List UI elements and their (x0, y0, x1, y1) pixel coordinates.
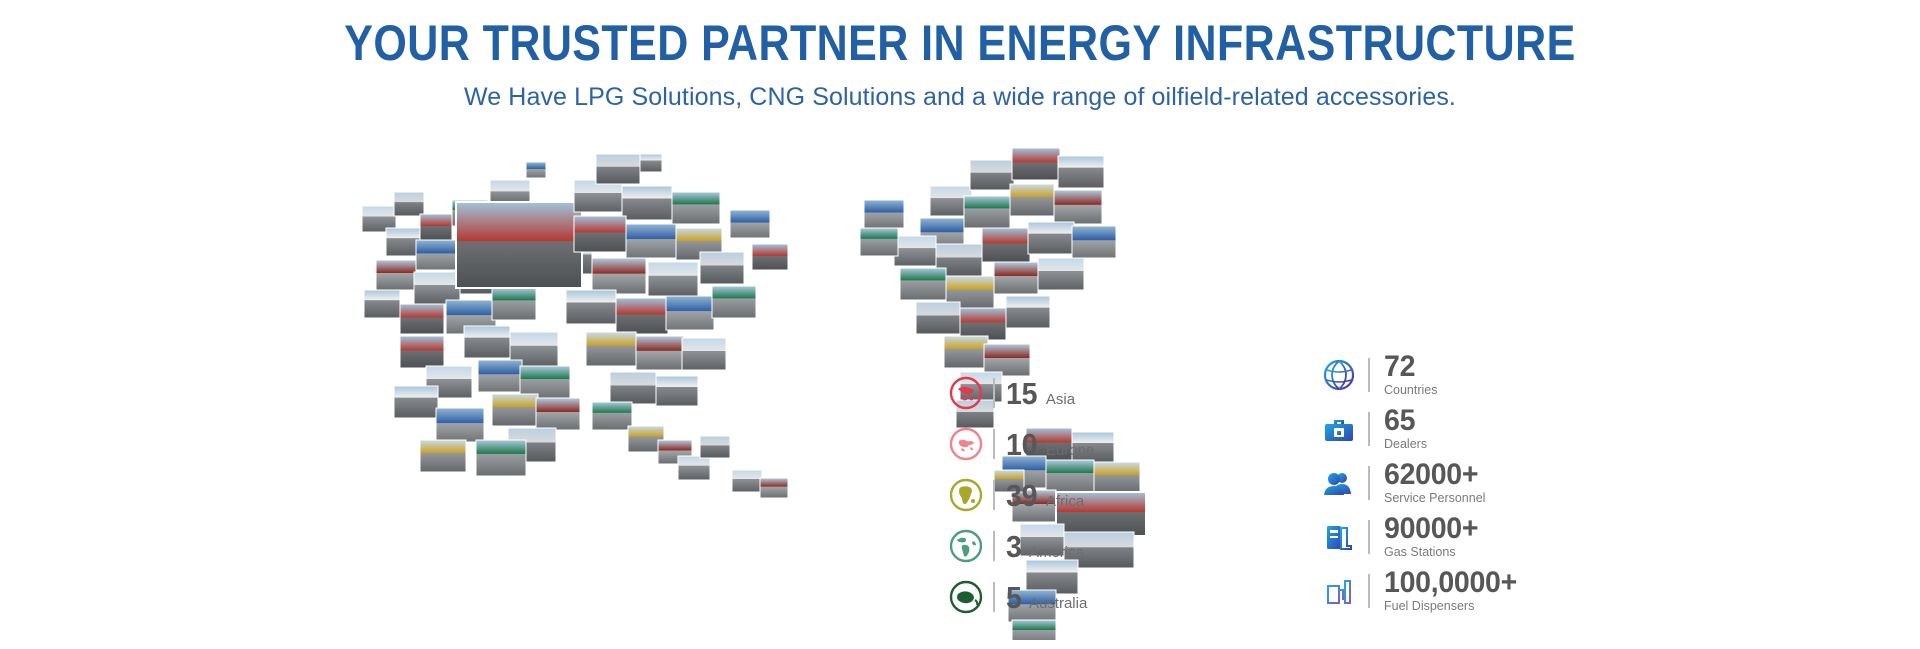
globe-america-icon (945, 525, 987, 567)
stat-label: Countries (1384, 383, 1438, 397)
stat-text: 5 Australia (1006, 582, 1087, 613)
stat-value: 62000+ (1384, 461, 1478, 489)
stat-divider (1368, 358, 1370, 392)
fuel-dispenser-icon (1318, 570, 1360, 612)
stat-divider (993, 582, 995, 612)
stat-text: 100,0000+ Fuel Dispensers (1384, 569, 1524, 613)
stat-row-australia: 5 Australia (945, 572, 1205, 622)
header-block: YOUR TRUSTED PARTNER IN ENERGY INFRASTRU… (0, 14, 1920, 112)
globe-outline-icon (1318, 354, 1360, 396)
stat-divider (993, 480, 995, 510)
stat-row-fuel-dispensers: 100,0000+ Fuel Dispensers (1318, 564, 1648, 617)
stat-divider (1368, 574, 1370, 608)
stat-row-service-personnel: 62000+ Service Personnel (1318, 456, 1648, 509)
stat-divider (993, 531, 995, 561)
stat-label: Gas Stations (1384, 545, 1456, 559)
energy-infrastructure-banner: YOUR TRUSTED PARTNER IN ENERGY INFRASTRU… (0, 0, 1920, 649)
stat-text: 65 Dealers (1384, 407, 1427, 451)
page-subtitle: We Have LPG Solutions, CNG Solutions and… (0, 82, 1920, 112)
globe-europe-icon (945, 423, 987, 465)
stat-divider (1368, 520, 1370, 554)
stat-divider (993, 429, 995, 459)
stat-text: 90000+ Gas Stations (1384, 515, 1483, 559)
stat-row-europe: 10 Europe (945, 419, 1205, 469)
stat-divider (1368, 412, 1370, 446)
stat-text: 15 Asia (1006, 378, 1075, 409)
globe-australia-icon (945, 576, 987, 618)
metric-stats-list: 72 Countries 65 Dealers (1318, 348, 1648, 618)
stat-row-africa: 39 Africa (945, 470, 1205, 520)
people-icon (1318, 462, 1360, 504)
stat-value: 72 (1384, 353, 1415, 381)
stat-text: 10 Europe (1006, 429, 1094, 460)
stat-label: America (1029, 544, 1084, 561)
stat-label: Europe (1046, 442, 1094, 459)
stat-value: 39 (1006, 480, 1037, 511)
stat-text: 39 Africa (1006, 480, 1084, 511)
stat-row-dealers: 65 Dealers (1318, 402, 1648, 455)
stat-row-asia: 15 Asia (945, 368, 1205, 418)
world-map-mosaic (360, 140, 1360, 640)
page-title: YOUR TRUSTED PARTNER IN ENERGY INFRASTRU… (134, 14, 1785, 72)
stat-value: 90000+ (1384, 515, 1478, 543)
stat-value: 5 (1006, 582, 1022, 613)
stat-row-america: 3 America (945, 521, 1205, 571)
stat-value: 10 (1006, 429, 1037, 460)
globe-asia-icon (945, 372, 987, 414)
stat-value: 65 (1384, 407, 1415, 435)
stat-row-gas-stations: 90000+ Gas Stations (1318, 510, 1648, 563)
stat-divider (993, 378, 995, 408)
briefcase-icon (1318, 408, 1360, 450)
stat-label: Africa (1046, 493, 1084, 510)
stat-label: Asia (1046, 391, 1075, 408)
stat-label: Service Personnel (1384, 491, 1485, 505)
stat-row-countries: 72 Countries (1318, 348, 1648, 401)
stat-divider (1368, 466, 1370, 500)
stat-value: 100,0000+ (1384, 569, 1517, 597)
stat-value: 15 (1006, 378, 1037, 409)
globe-africa-icon (945, 474, 987, 516)
stat-value: 3 (1006, 531, 1022, 562)
stat-label: Dealers (1384, 437, 1427, 451)
world-map-tiles (360, 140, 1360, 640)
stat-label: Fuel Dispensers (1384, 599, 1474, 613)
continent-stats-list: 15 Asia 10 Europe (945, 368, 1205, 623)
stat-text: 72 Countries (1384, 353, 1438, 397)
gas-pump-icon (1318, 516, 1360, 558)
stat-text: 62000+ Service Personnel (1384, 461, 1485, 505)
stat-label: Australia (1029, 595, 1087, 612)
stat-text: 3 America (1006, 531, 1084, 562)
